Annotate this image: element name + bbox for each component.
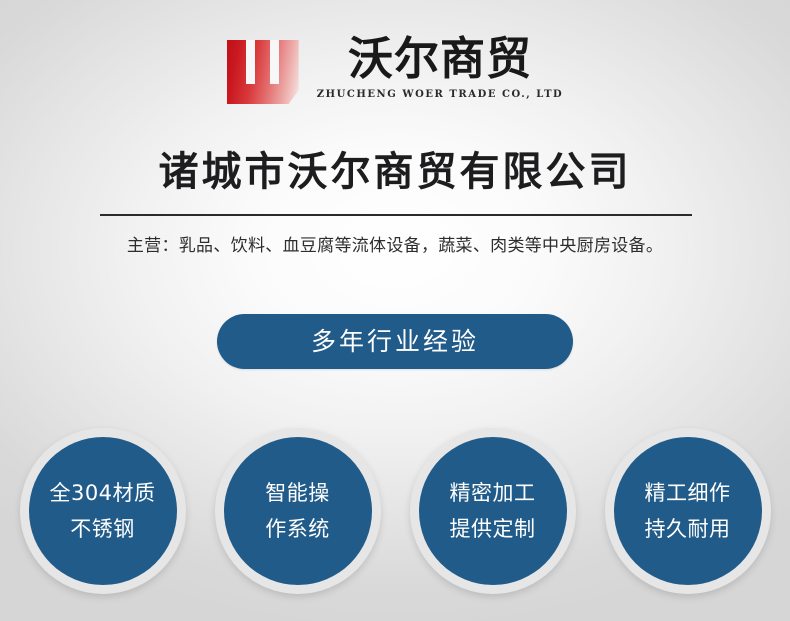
feature-line-2: 提供定制 — [450, 511, 536, 547]
feature-line-1: 精工细作 — [645, 475, 731, 511]
logo-row: 沃尔商贸 ZHUCHENG WOER TRADE CO., LTD — [0, 34, 790, 104]
business-scope-text: 主营：乳品、饮料、血豆腐等流体设备，蔬菜、肉类等中央厨房设备。 — [0, 232, 790, 260]
title-divider — [100, 214, 692, 216]
feature-circle-smart-system[interactable]: 智能操 作系统 — [215, 428, 381, 594]
logo-slot-right — [270, 40, 279, 84]
experience-badge-label: 多年行业经验 — [311, 327, 479, 357]
feature-line-2: 作系统 — [265, 511, 330, 547]
feature-line-2: 持久耐用 — [645, 511, 731, 547]
experience-badge[interactable]: 多年行业经验 — [217, 314, 573, 369]
logo-company-en: ZHUCHENG WOER TRADE CO., LTD — [317, 89, 564, 101]
promo-banner: 沃尔商贸 ZHUCHENG WOER TRADE CO., LTD 诸城市沃尔商… — [0, 0, 790, 621]
brand-logo: 沃尔商贸 ZHUCHENG WOER TRADE CO., LTD — [227, 34, 564, 104]
page-title: 诸城市沃尔商贸有限公司 — [0, 146, 790, 198]
feature-circle-precision[interactable]: 精密加工 提供定制 — [410, 428, 576, 594]
feature-circle-inner: 智能操 作系统 — [224, 437, 372, 585]
experience-badge-wrap: 多年行业经验 — [0, 314, 790, 369]
logo-company-cn: 沃尔商贸 — [348, 34, 532, 84]
feature-circle-inner: 精工细作 持久耐用 — [614, 437, 762, 585]
logo-text-block: 沃尔商贸 ZHUCHENG WOER TRADE CO., LTD — [317, 34, 564, 101]
feature-line-2: 不锈钢 — [70, 511, 135, 547]
feature-circle-inner: 全304材质 不锈钢 — [29, 437, 177, 585]
feature-circle-material[interactable]: 全304材质 不锈钢 — [20, 428, 186, 594]
feature-line-1: 智能操 — [265, 475, 330, 511]
feature-circle-durability[interactable]: 精工细作 持久耐用 — [605, 428, 771, 594]
feature-line-1: 精密加工 — [450, 475, 536, 511]
feature-circle-inner: 精密加工 提供定制 — [419, 437, 567, 585]
feature-line-1: 全304材质 — [49, 475, 155, 511]
logo-slot-left — [246, 40, 255, 84]
feature-circle-list: 全304材质 不锈钢 智能操 作系统 精密加工 提供定制 精工细作 持久耐用 — [0, 428, 790, 594]
woer-w-mark-icon — [227, 40, 299, 104]
